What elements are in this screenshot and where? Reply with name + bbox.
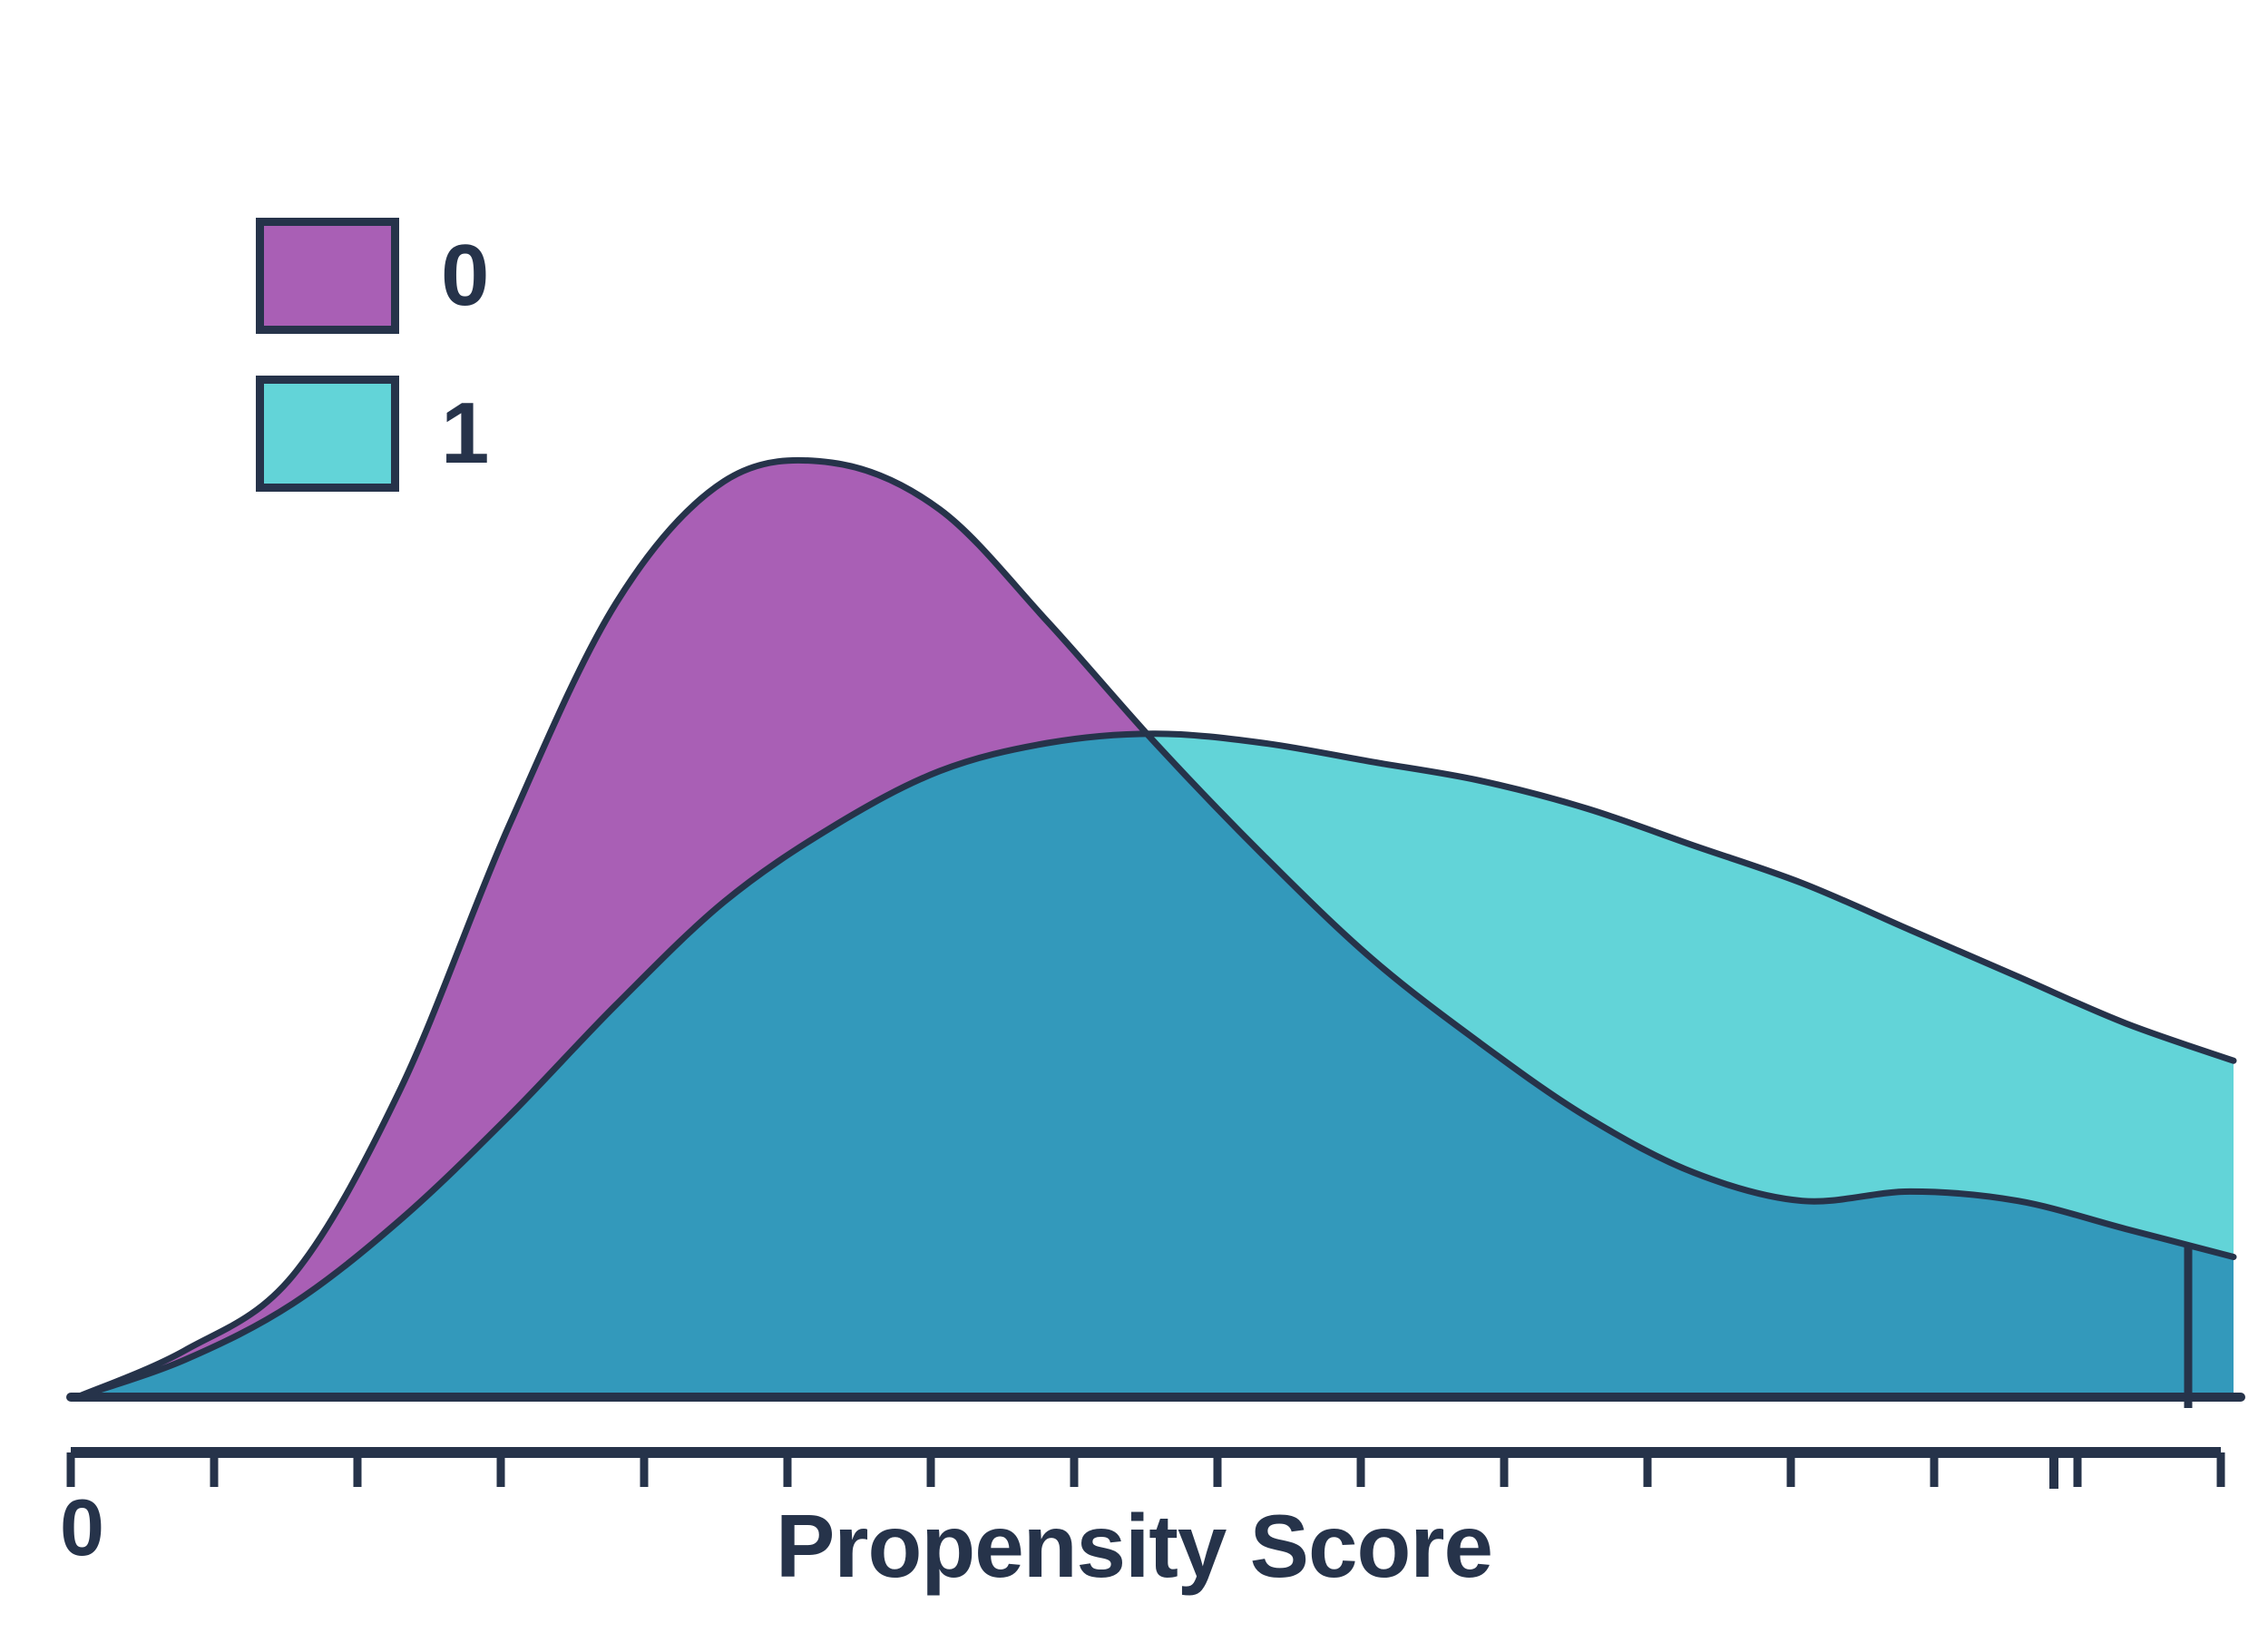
density-plot-figure: 0 1 0 Propensity Score bbox=[0, 0, 2268, 1633]
legend-swatch-group-1 bbox=[256, 376, 399, 492]
legend: 0 1 bbox=[256, 218, 489, 492]
legend-item-0[interactable]: 0 bbox=[256, 218, 489, 334]
x-axis-title: Propensity Score bbox=[0, 1501, 2268, 1590]
legend-item-1[interactable]: 1 bbox=[256, 376, 489, 492]
legend-swatch-group-0 bbox=[256, 218, 399, 334]
legend-label-1: 1 bbox=[441, 390, 489, 477]
legend-label-0: 0 bbox=[441, 232, 489, 319]
